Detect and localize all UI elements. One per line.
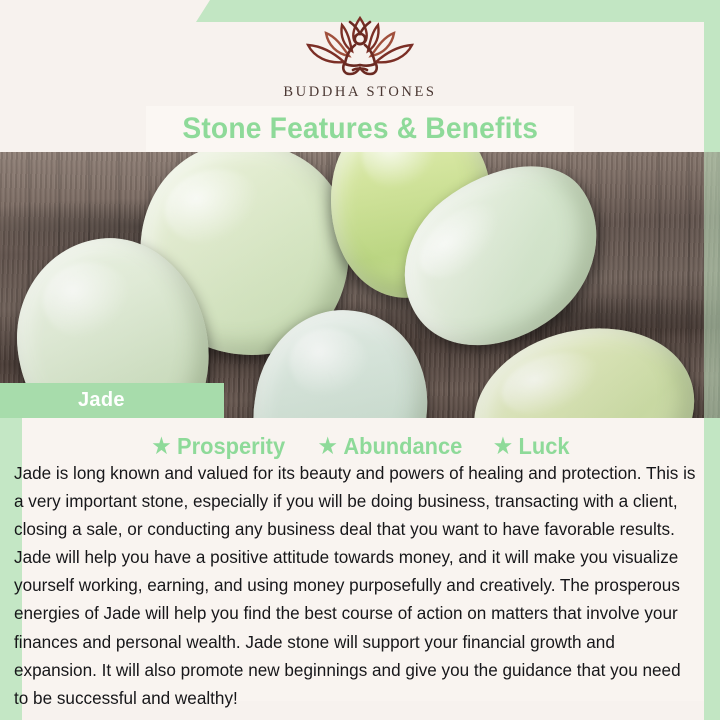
star-icon: ★ xyxy=(152,436,170,457)
stone-name-bar: Jade xyxy=(0,383,224,418)
brand-name: BUDDHA STONES xyxy=(283,84,436,101)
stone-name-label: Jade xyxy=(78,389,125,412)
star-icon: ★ xyxy=(494,436,512,457)
infographic-card: BUDDHA STONES Stone Features & Benefits … xyxy=(0,0,720,720)
stone-photo xyxy=(0,152,720,418)
description-text: Jade is long known and valued for its be… xyxy=(14,459,698,712)
benefit-label: Abundance xyxy=(343,433,462,460)
benefit-label: Luck xyxy=(518,433,569,460)
benefits-row: ★ Prosperity ★ Abundance ★ Luck xyxy=(0,430,720,462)
photo-green-edge xyxy=(704,152,720,418)
benefit-item-2: ★ Luck xyxy=(494,433,570,460)
lotus-meditation-icon xyxy=(298,12,422,80)
brand-logo: BUDDHA STONES xyxy=(0,12,720,104)
benefit-label: Prosperity xyxy=(177,433,285,460)
benefit-item-0: ★ Prosperity xyxy=(152,433,285,460)
title-band: Stone Features & Benefits xyxy=(146,106,574,152)
benefit-item-1: ★ Abundance xyxy=(318,433,462,460)
star-icon: ★ xyxy=(318,436,336,457)
page-title: Stone Features & Benefits xyxy=(182,114,538,144)
